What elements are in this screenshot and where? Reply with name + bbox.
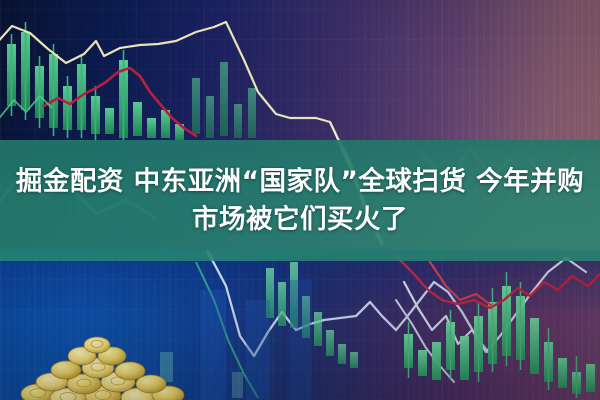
headline-line-2: 市场被它们买火了 bbox=[192, 203, 408, 237]
headline-block: 掘金配资 中东亚洲“国家队”全球扫货 今年并购 市场被它们买火了 bbox=[0, 140, 600, 261]
thumbnail-image: 掘金配资 中东亚洲“国家队”全球扫货 今年并购 市场被它们买火了 bbox=[0, 0, 600, 400]
headline-line-1: 掘金配资 中东亚洲“国家队”全球扫货 今年并购 bbox=[16, 165, 584, 199]
